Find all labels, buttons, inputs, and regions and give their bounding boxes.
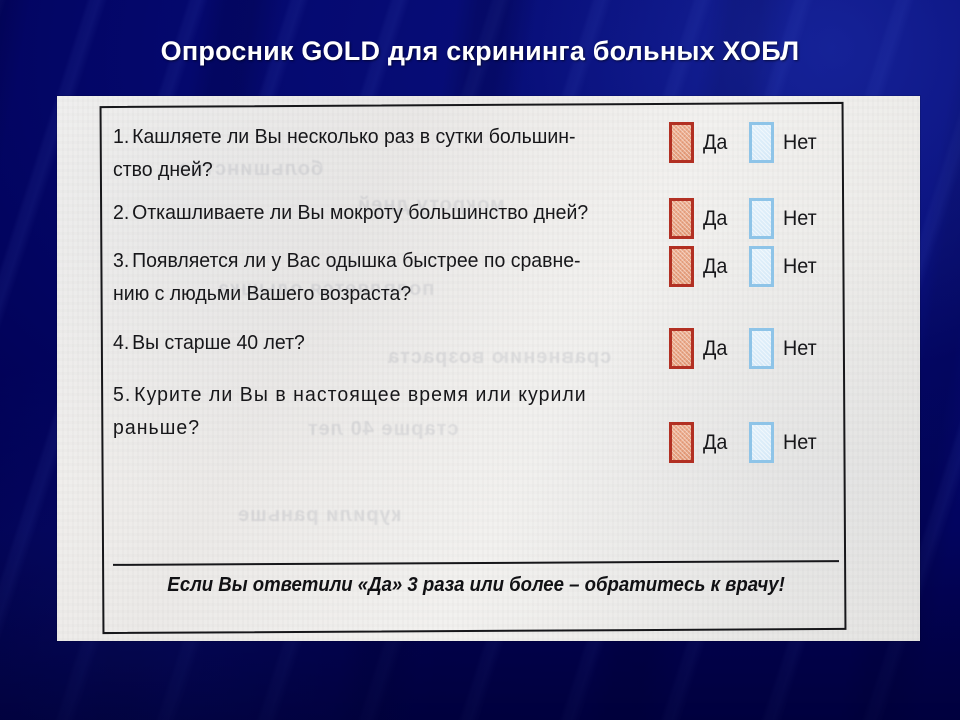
answer-yes-4[interactable]: Да bbox=[669, 328, 729, 369]
question-text-2: 2.Откашливаете ли Вы мокроту большинство… bbox=[113, 196, 641, 229]
checkbox-no-icon[interactable] bbox=[749, 122, 774, 163]
footer-advice-text: Если Вы ответили «Да» 3 раза или более –… bbox=[138, 574, 813, 597]
answer-group-4: Да Нет bbox=[669, 326, 819, 369]
answer-yes-1[interactable]: Да bbox=[669, 122, 729, 163]
answer-no-3[interactable]: Нет bbox=[749, 246, 819, 287]
question-row-1: 1.Кашляете ли Вы несколько раз в сутки б… bbox=[113, 120, 837, 186]
answer-yes-label: Да bbox=[703, 208, 727, 229]
question-line2-3: нию с людьми Вашего возраста? bbox=[113, 277, 641, 310]
question-line1-1: Кашляете ли Вы несколько раз в сутки бол… bbox=[132, 125, 575, 148]
answer-no-5[interactable]: Нет bbox=[749, 422, 819, 463]
answer-no-2[interactable]: Нет bbox=[749, 198, 819, 239]
question-line1-2: Откашливаете ли Вы мокроту большинство д… bbox=[132, 201, 588, 224]
answer-yes-label: Да bbox=[703, 132, 727, 153]
scanned-questionnaire-image: большинство мокроту дней появляется одыш… bbox=[57, 96, 920, 641]
question-row-3: 3.Появляется ли у Вас одышка быстрее по … bbox=[113, 244, 837, 310]
question-text-5: 5.Курите ли Вы в настоящее время или кур… bbox=[113, 378, 641, 444]
checkbox-no-icon[interactable] bbox=[749, 328, 774, 369]
answer-no-label: Нет bbox=[783, 432, 817, 453]
answer-group-1: Да Нет bbox=[669, 120, 819, 163]
checkbox-no-icon[interactable] bbox=[749, 198, 774, 239]
answer-group-2: Да Нет bbox=[669, 196, 819, 239]
question-line1-3: Появляется ли у Вас одышка быстрее по ср… bbox=[132, 249, 580, 272]
question-row-2: 2.Откашливаете ли Вы мокроту большинство… bbox=[113, 196, 837, 239]
answer-no-label: Нет bbox=[783, 256, 817, 277]
question-text-4: 4.Вы старше 40 лет? bbox=[113, 326, 641, 359]
answer-yes-label: Да bbox=[703, 256, 727, 277]
answer-no-label: Нет bbox=[783, 132, 817, 153]
checkbox-yes-icon[interactable] bbox=[669, 246, 694, 287]
checkbox-yes-icon[interactable] bbox=[669, 328, 694, 369]
question-row-5: 5.Курите ли Вы в настоящее время или кур… bbox=[113, 378, 837, 463]
answer-group-3: Да Нет bbox=[669, 244, 819, 287]
question-line1-5: Курите ли Вы в настоящее время или курил… bbox=[134, 383, 587, 406]
answer-yes-2[interactable]: Да bbox=[669, 198, 729, 239]
answer-yes-label: Да bbox=[703, 338, 727, 359]
question-text-3: 3.Появляется ли у Вас одышка быстрее по … bbox=[113, 244, 641, 310]
question-number-2: 2. bbox=[113, 201, 129, 224]
checkbox-yes-icon[interactable] bbox=[669, 122, 694, 163]
checkbox-yes-icon[interactable] bbox=[669, 422, 694, 463]
answer-no-4[interactable]: Нет bbox=[749, 328, 819, 369]
question-number-1: 1. bbox=[113, 125, 129, 148]
question-number-5: 5. bbox=[113, 383, 131, 406]
checkbox-yes-icon[interactable] bbox=[669, 198, 694, 239]
presentation-slide: Опросник GOLD для скрининга больных ХОБЛ… bbox=[0, 0, 960, 720]
checkbox-no-icon[interactable] bbox=[749, 246, 774, 287]
question-text-1: 1.Кашляете ли Вы несколько раз в сутки б… bbox=[113, 120, 641, 186]
answer-no-label: Нет bbox=[783, 208, 817, 229]
answer-yes-label: Да bbox=[703, 432, 727, 453]
answer-group-5: Да Нет bbox=[669, 378, 819, 463]
checkbox-no-icon[interactable] bbox=[749, 422, 774, 463]
question-number-4: 4. bbox=[113, 331, 129, 354]
answer-yes-5[interactable]: Да bbox=[669, 422, 729, 463]
question-line2-1: ство дней? bbox=[113, 153, 641, 186]
question-line2-5: раньше? bbox=[113, 411, 641, 444]
questionnaire-sheet: 1.Кашляете ли Вы несколько раз в сутки б… bbox=[113, 112, 837, 624]
answer-no-label: Нет bbox=[783, 338, 817, 359]
question-line1-4: Вы старше 40 лет? bbox=[132, 331, 305, 354]
answer-yes-3[interactable]: Да bbox=[669, 246, 729, 287]
question-row-4: 4.Вы старше 40 лет? Да Нет bbox=[113, 326, 837, 369]
answer-no-1[interactable]: Нет bbox=[749, 122, 819, 163]
slide-title: Опросник GOLD для скрининга больных ХОБЛ bbox=[0, 36, 960, 67]
question-number-3: 3. bbox=[113, 249, 129, 272]
